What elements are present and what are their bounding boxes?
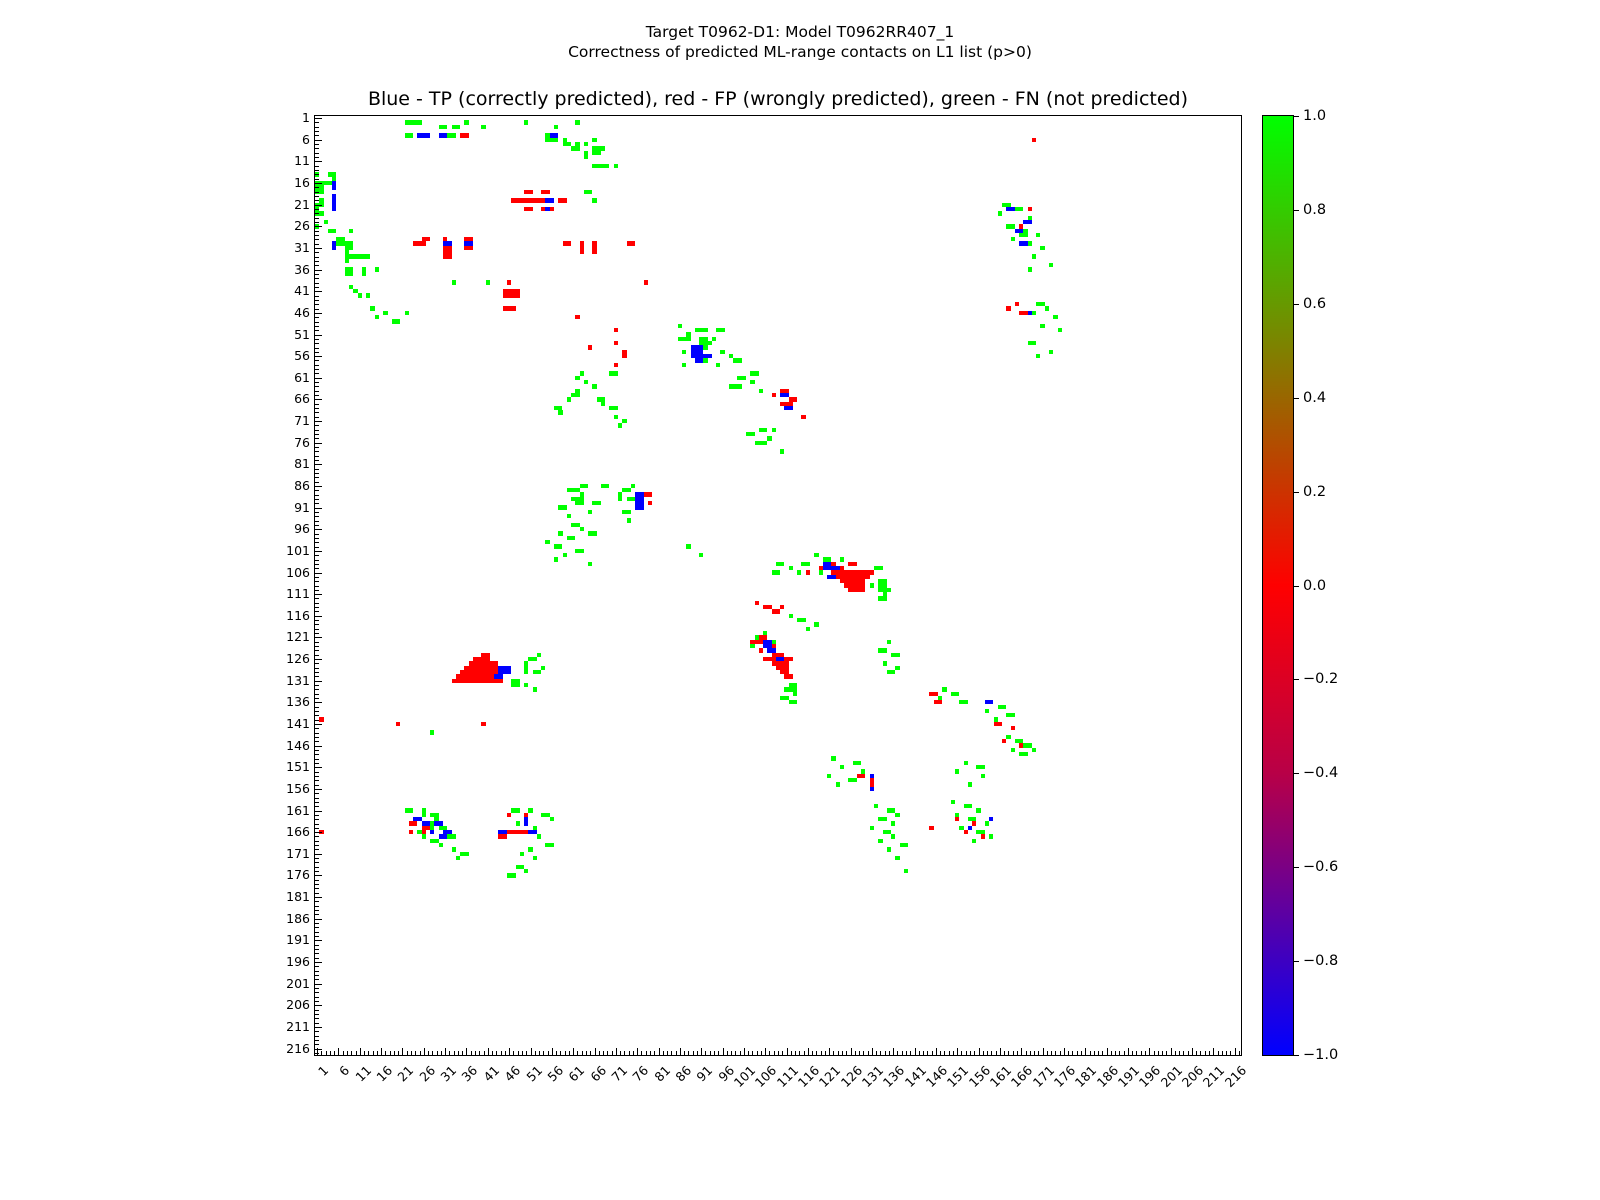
contact-cell (375, 315, 379, 319)
contact-cell (763, 640, 772, 649)
y-minor-tick (315, 893, 319, 894)
x-minor-tick (987, 1051, 988, 1055)
contact-cell (592, 241, 596, 254)
contact-cell (537, 834, 541, 838)
contact-cell (878, 596, 882, 600)
x-tick-label: 36 (460, 1064, 480, 1084)
y-minor-tick (315, 720, 319, 721)
y-minor-tick (315, 750, 319, 751)
contact-cell (622, 488, 631, 492)
y-minor-tick (315, 932, 319, 933)
contact-cell (678, 337, 687, 341)
contact-cell (703, 354, 712, 358)
y-minor-tick (315, 711, 319, 712)
contact-cell (580, 484, 589, 488)
x-minor-tick (1230, 1051, 1231, 1055)
y-major-tick (315, 962, 322, 963)
x-minor-tick (889, 1051, 890, 1055)
contact-cell (422, 834, 426, 838)
y-minor-tick (315, 322, 319, 323)
y-major-tick (315, 226, 322, 227)
y-minor-tick (315, 244, 319, 245)
contact-cell (507, 280, 511, 284)
x-minor-tick (407, 1051, 408, 1055)
y-major-tick (315, 529, 322, 530)
y-minor-tick (315, 438, 319, 439)
y-minor-tick (315, 741, 319, 742)
y-minor-tick (315, 728, 319, 729)
contact-cell (951, 692, 960, 696)
y-minor-tick (315, 148, 319, 149)
y-minor-tick (315, 806, 319, 807)
contact-cell (618, 423, 622, 427)
contact-cell (1028, 207, 1032, 211)
contact-cell (981, 774, 985, 778)
y-minor-tick (315, 196, 319, 197)
colorbar-tick-label: 0.4 (1303, 391, 1326, 405)
y-minor-tick (315, 192, 319, 193)
contact-cell (571, 393, 580, 397)
x-minor-tick (603, 1051, 604, 1055)
contact-cell (622, 419, 626, 423)
contact-cell (370, 306, 374, 310)
y-tick-label: 196 (286, 956, 310, 968)
contact-cell (332, 194, 336, 203)
x-minor-tick (885, 1051, 886, 1055)
contact-cell (319, 190, 323, 194)
y-minor-tick (315, 733, 319, 734)
contact-cell (550, 138, 559, 142)
y-minor-tick (315, 525, 319, 526)
x-minor-tick (373, 1051, 374, 1055)
x-minor-tick (1090, 1051, 1091, 1055)
contact-cell (533, 856, 537, 860)
contact-cell (550, 133, 559, 137)
x-minor-tick (420, 1051, 421, 1055)
y-minor-tick (315, 945, 319, 946)
y-minor-tick (315, 261, 319, 262)
x-minor-tick (347, 1051, 348, 1055)
x-major-tick (1149, 1048, 1150, 1055)
contact-cell (985, 821, 989, 825)
y-minor-tick (315, 235, 319, 236)
contact-cell (972, 839, 976, 843)
x-minor-tick (705, 1051, 706, 1055)
contact-cell (541, 190, 550, 194)
x-minor-tick (560, 1051, 561, 1055)
x-major-tick (445, 1048, 446, 1055)
contact-cell (614, 341, 618, 345)
y-minor-tick (315, 430, 319, 431)
x-minor-tick (1196, 1051, 1197, 1055)
x-minor-tick (816, 1051, 817, 1055)
x-minor-tick (343, 1051, 344, 1055)
contact-cell (601, 402, 605, 406)
y-minor-tick (315, 386, 319, 387)
contact-cell (712, 337, 716, 341)
contact-cell (464, 120, 468, 124)
x-major-tick (957, 1048, 958, 1055)
y-major-tick (315, 854, 322, 855)
y-minor-tick (315, 482, 319, 483)
colorbar-tick-label: −1.0 (1303, 1048, 1338, 1062)
colorbar-tick-label: 0.2 (1303, 485, 1326, 499)
x-tick-label: 71 (610, 1064, 630, 1084)
contact-cell (554, 544, 563, 548)
y-minor-tick (315, 819, 319, 820)
contact-cell (464, 246, 473, 250)
x-minor-tick (902, 1051, 903, 1055)
x-minor-tick (1094, 1051, 1095, 1055)
contact-cell (1036, 233, 1040, 237)
y-minor-tick (315, 620, 319, 621)
y-minor-tick (315, 425, 319, 426)
x-minor-tick (577, 1051, 578, 1055)
contact-cell (1006, 735, 1010, 739)
y-major-tick (315, 897, 322, 898)
contact-cell (498, 834, 507, 838)
y-tick-label: 146 (286, 740, 310, 752)
y-major-tick (315, 421, 322, 422)
contact-cell (801, 562, 810, 566)
x-minor-tick (953, 1051, 954, 1055)
contact-cell (883, 592, 887, 601)
x-minor-tick (462, 1051, 463, 1055)
contact-cell (524, 869, 528, 873)
y-minor-tick (315, 590, 319, 591)
y-tick-label: 46 (294, 307, 310, 319)
contact-cell (848, 588, 865, 592)
contact-cell (1019, 752, 1028, 756)
x-minor-tick (1175, 1051, 1176, 1055)
contact-cell (366, 293, 370, 297)
y-tick-label: 6 (302, 134, 310, 146)
contact-cell (614, 328, 618, 332)
y-minor-tick (315, 849, 319, 850)
y-tick-label: 166 (286, 826, 310, 838)
y-minor-tick (315, 1018, 319, 1019)
contact-cell (1006, 224, 1015, 228)
x-major-tick (402, 1048, 403, 1055)
x-minor-tick (377, 1051, 378, 1055)
contact-cell (827, 774, 831, 778)
y-minor-tick (315, 200, 319, 201)
y-minor-tick (315, 685, 319, 686)
x-minor-tick (518, 1051, 519, 1055)
y-minor-tick (315, 828, 319, 829)
y-minor-tick (315, 490, 319, 491)
y-minor-tick (315, 880, 319, 881)
y-tick-label: 176 (286, 869, 310, 881)
y-tick-label: 36 (294, 264, 310, 276)
contact-cell (439, 125, 448, 129)
contact-cell (332, 207, 336, 211)
x-minor-tick (795, 1051, 796, 1055)
x-minor-tick (437, 1051, 438, 1055)
y-tick-label: 71 (294, 415, 310, 427)
x-minor-tick (1008, 1051, 1009, 1055)
contact-cell (452, 280, 456, 284)
x-major-tick (787, 1048, 788, 1055)
y-major-tick (315, 183, 322, 184)
contact-cell (524, 817, 528, 826)
y-major-tick (315, 1049, 322, 1050)
x-tick-label: 61 (567, 1064, 587, 1084)
contact-cell (537, 653, 541, 657)
y-major-tick (315, 161, 322, 162)
contact-cell (571, 523, 580, 527)
contact-cell (618, 492, 622, 501)
contact-cell (1006, 713, 1015, 717)
contact-cell (558, 505, 567, 509)
x-minor-tick (415, 1051, 416, 1055)
x-minor-tick (432, 1051, 433, 1055)
contact-cell (789, 566, 793, 570)
x-minor-tick (1119, 1051, 1120, 1055)
x-minor-tick (1051, 1051, 1052, 1055)
contact-cell (797, 570, 801, 574)
contact-cell (942, 687, 946, 691)
contact-cell (895, 813, 899, 817)
contact-cell (319, 211, 323, 215)
x-minor-tick (321, 1051, 322, 1055)
contact-cell (592, 151, 601, 155)
contact-cell (588, 562, 592, 566)
contact-cell (895, 856, 899, 860)
y-minor-tick (315, 283, 319, 284)
y-minor-tick (315, 417, 319, 418)
y-minor-tick (315, 862, 319, 863)
x-major-tick (616, 1048, 617, 1055)
x-minor-tick (556, 1051, 557, 1055)
x-major-tick (381, 1048, 382, 1055)
colorbar-tick (1293, 398, 1299, 399)
contact-cell (755, 441, 768, 445)
x-major-tick (509, 1048, 510, 1055)
contact-cell (780, 449, 784, 453)
x-minor-tick (535, 1051, 536, 1055)
colorbar-tick (1293, 773, 1299, 774)
contact-cell (524, 207, 533, 211)
contact-cell (1015, 207, 1024, 211)
contact-cell (959, 700, 968, 704)
y-minor-tick (315, 871, 319, 872)
y-minor-tick (315, 122, 319, 123)
contact-cell (439, 133, 448, 137)
contact-map-cells (315, 116, 1241, 1055)
colorbar-tick (1293, 492, 1299, 493)
y-minor-tick (315, 577, 319, 578)
x-minor-tick (650, 1051, 651, 1055)
contact-cell (528, 657, 537, 661)
x-minor-tick (966, 1051, 967, 1055)
contact-cell (1006, 306, 1010, 310)
x-major-tick (680, 1048, 681, 1055)
contact-cell (567, 397, 571, 401)
x-minor-tick (522, 1051, 523, 1055)
x-minor-tick (1026, 1051, 1027, 1055)
y-minor-tick (315, 793, 319, 794)
x-minor-tick (782, 1051, 783, 1055)
contact-cell (695, 328, 704, 332)
y-minor-tick (315, 547, 319, 548)
y-minor-tick (315, 910, 319, 911)
contact-cell (1036, 302, 1045, 306)
contact-cell (511, 808, 520, 812)
contact-cell (955, 817, 959, 821)
y-minor-tick (315, 1040, 319, 1041)
contact-cell (1011, 726, 1015, 730)
y-tick-label: 161 (286, 805, 310, 817)
y-major-tick (315, 291, 322, 292)
x-minor-tick (1013, 1051, 1014, 1055)
x-minor-tick (944, 1051, 945, 1055)
contact-cell (558, 531, 562, 535)
x-minor-tick (727, 1051, 728, 1055)
x-minor-tick (863, 1051, 864, 1055)
y-minor-tick (315, 841, 319, 842)
contact-cell (528, 808, 532, 812)
x-major-tick (936, 1048, 937, 1055)
contact-cell (716, 328, 725, 332)
contact-cell (968, 826, 972, 830)
y-minor-tick (315, 603, 319, 604)
y-tick-label: 141 (286, 718, 310, 730)
x-minor-tick (833, 1051, 834, 1055)
contact-cell (806, 627, 810, 631)
y-major-tick (315, 681, 322, 682)
x-minor-tick (855, 1051, 856, 1055)
y-major-tick (315, 789, 322, 790)
contact-cell (481, 125, 485, 129)
x-major-tick (1171, 1048, 1172, 1055)
contact-cell (584, 380, 588, 384)
contact-cell (524, 190, 533, 194)
contact-cell (648, 501, 652, 505)
x-minor-tick (684, 1051, 685, 1055)
x-tick-label: 81 (652, 1064, 672, 1084)
x-major-tick (1192, 1048, 1193, 1055)
x-minor-tick (569, 1051, 570, 1055)
y-minor-tick (315, 715, 319, 716)
y-major-tick (315, 594, 322, 595)
contact-cell (452, 125, 461, 129)
x-minor-tick (842, 1051, 843, 1055)
x-tick-label: 66 (588, 1064, 608, 1084)
contact-cell (413, 241, 426, 245)
y-major-tick (315, 270, 322, 271)
y-minor-tick (315, 1010, 319, 1011)
x-major-tick (1021, 1048, 1022, 1055)
y-minor-tick (315, 802, 319, 803)
contact-cell (614, 415, 618, 419)
y-minor-tick (315, 187, 319, 188)
x-minor-tick (1060, 1051, 1061, 1055)
x-minor-tick (919, 1051, 920, 1055)
y-minor-tick (315, 815, 319, 816)
contact-cell (622, 354, 626, 358)
contact-cell (507, 813, 511, 817)
contact-cell (609, 371, 618, 375)
x-tick-label: 56 (546, 1064, 566, 1084)
x-minor-tick (927, 1051, 928, 1055)
y-minor-tick (315, 434, 319, 435)
y-tick-label: 86 (294, 480, 310, 492)
contact-cell (580, 371, 584, 375)
x-minor-tick (629, 1051, 630, 1055)
y-tick-label: 21 (294, 199, 310, 211)
x-minor-tick (846, 1051, 847, 1055)
y-minor-tick (315, 642, 319, 643)
contact-cell (528, 847, 532, 851)
y-minor-tick (315, 343, 319, 344)
y-minor-tick (315, 927, 319, 928)
y-minor-tick (315, 352, 319, 353)
y-minor-tick (315, 144, 319, 145)
x-tick-label: 91 (695, 1064, 715, 1084)
contact-cell (1032, 748, 1036, 752)
y-minor-tick (315, 629, 319, 630)
x-tick-label: 21 (396, 1064, 416, 1084)
x-minor-tick (441, 1051, 442, 1055)
x-minor-tick (821, 1051, 822, 1055)
y-minor-tick (315, 901, 319, 902)
x-minor-tick (1055, 1051, 1056, 1055)
x-tick-label: 31 (439, 1064, 459, 1084)
y-minor-tick (315, 668, 319, 669)
y-minor-tick (315, 997, 319, 998)
x-major-tick (701, 1048, 702, 1055)
contact-cell (452, 679, 503, 683)
y-tick-label: 11 (294, 155, 310, 167)
contact-cell (575, 376, 579, 380)
contact-cell (358, 293, 362, 297)
contact-cell (750, 640, 763, 644)
contact-cell (541, 813, 550, 817)
y-tick-label: 191 (286, 934, 310, 946)
x-minor-tick (364, 1051, 365, 1055)
x-minor-tick (1200, 1051, 1201, 1055)
x-major-tick (338, 1048, 339, 1055)
x-tick-label: 1 (317, 1064, 331, 1078)
contact-cell (545, 207, 549, 211)
contact-cell (511, 679, 520, 688)
y-minor-tick (315, 568, 319, 569)
y-minor-tick (315, 698, 319, 699)
contact-cell (545, 540, 549, 544)
contact-cell (567, 488, 580, 492)
contact-cell (524, 683, 528, 687)
y-tick-label: 76 (294, 437, 310, 449)
contact-cell (976, 808, 980, 812)
contact-cell (814, 622, 818, 626)
contact-cell (1040, 324, 1044, 328)
colorbar-tick (1293, 586, 1299, 587)
contact-cell (883, 830, 892, 834)
x-minor-tick (799, 1051, 800, 1055)
x-minor-tick (1124, 1051, 1125, 1055)
x-major-tick (637, 1048, 638, 1055)
x-minor-tick (398, 1051, 399, 1055)
y-tick-label: 81 (294, 458, 310, 470)
y-minor-tick (315, 174, 319, 175)
colorbar-tick (1293, 116, 1299, 117)
contact-cell (682, 350, 686, 354)
contact-cell (430, 730, 434, 734)
y-minor-tick (315, 339, 319, 340)
y-minor-tick (315, 473, 319, 474)
x-minor-tick (996, 1051, 997, 1055)
